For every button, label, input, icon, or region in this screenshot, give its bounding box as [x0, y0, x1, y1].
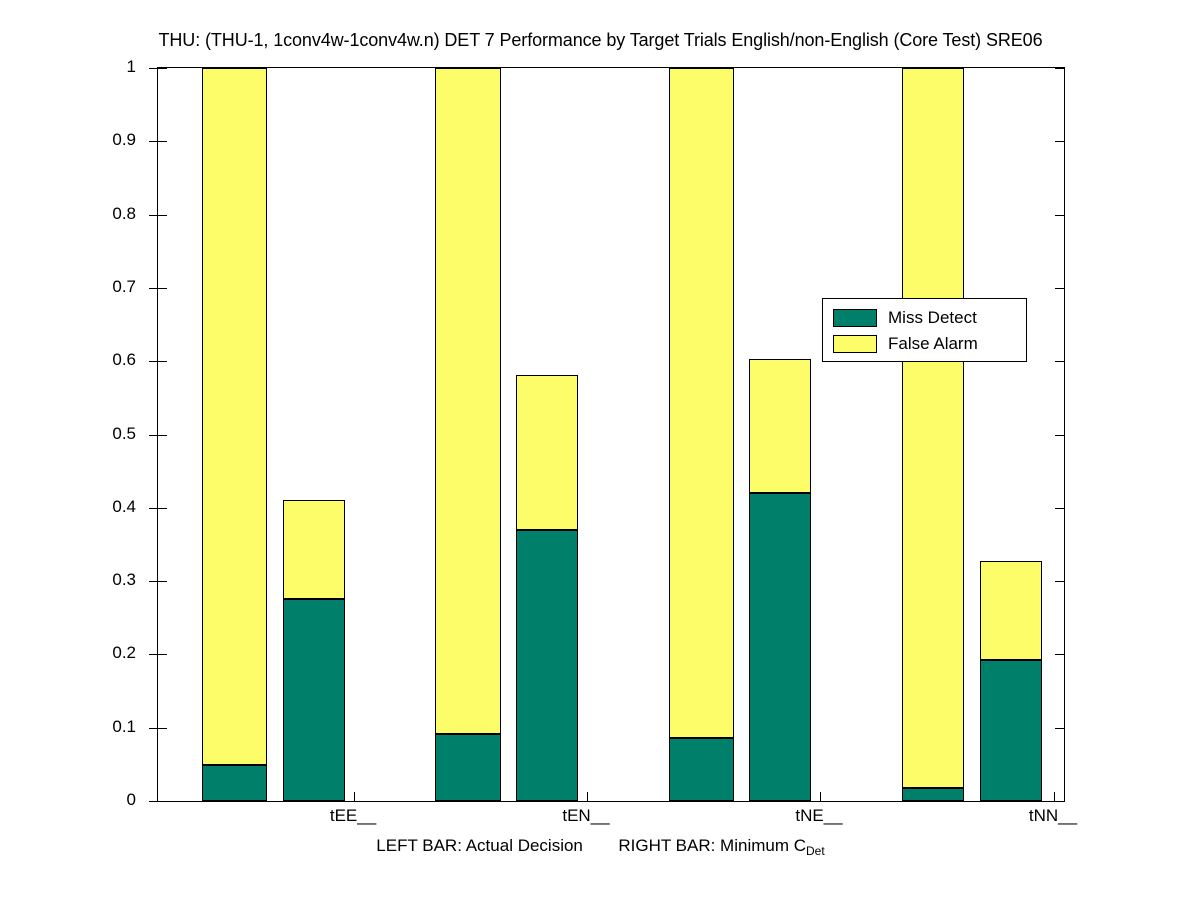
x-tick-mark: [1054, 792, 1055, 801]
y-axis-tick-label: 0.2: [16, 643, 136, 663]
legend-label-false-alarm: False Alarm: [888, 334, 978, 354]
bar-segment-miss-detect: [980, 660, 1042, 801]
y-tick-mark-inner: [158, 801, 167, 802]
y-tick-mark-inner: [158, 215, 167, 216]
bar-segment-miss-detect: [435, 734, 501, 801]
y-tick-mark: [149, 141, 158, 142]
bar-segment-miss-detect: [516, 530, 578, 801]
caption-right-bar: RIGHT BAR: Minimum C: [618, 836, 806, 855]
y-tick-mark: [149, 361, 158, 362]
bar-segment-false-alarm: [202, 68, 267, 765]
legend-label-miss-detect: Miss Detect: [888, 308, 977, 328]
y-tick-mark-inner: [158, 288, 167, 289]
y-axis-tick-label: 0.1: [16, 717, 136, 737]
y-tick-mark-right: [1055, 508, 1064, 509]
bar-segment-miss-detect: [283, 599, 345, 801]
y-axis-tick-label: 1: [16, 57, 136, 77]
x-axis-tick-label-tEN: tEN__: [562, 806, 609, 826]
y-tick-mark: [149, 68, 158, 69]
y-tick-mark-inner: [158, 361, 167, 362]
y-tick-mark: [149, 288, 158, 289]
plot-area: [157, 67, 1065, 802]
bar-tNN-minimum-cdet: [980, 561, 1042, 801]
bar-segment-miss-detect: [902, 788, 964, 801]
bar-segment-false-alarm: [435, 68, 501, 734]
y-tick-mark: [149, 728, 158, 729]
chart-caption: LEFT BAR: Actual Decision RIGHT BAR: Min…: [0, 836, 1201, 856]
x-axis-tick-label-tNE: tNE__: [795, 806, 842, 826]
bar-segment-miss-detect: [202, 765, 267, 801]
bar-tEN-minimum-cdet: [516, 375, 578, 801]
y-tick-mark-right: [1055, 728, 1064, 729]
bar-tEE-actual-decision: [202, 68, 267, 801]
y-axis-tick-label: 0.6: [16, 350, 136, 370]
plot-inner: [158, 68, 1064, 801]
bar-segment-false-alarm: [980, 561, 1042, 660]
bar-tNN-actual-decision: [902, 68, 964, 801]
y-tick-mark: [149, 654, 158, 655]
bar-segment-false-alarm: [669, 68, 734, 738]
legend-item-miss-detect[interactable]: Miss Detect: [833, 305, 1026, 331]
y-axis-tick-label: 0.5: [16, 424, 136, 444]
chart-legend[interactable]: Miss Detect False Alarm: [822, 298, 1027, 362]
legend-item-false-alarm[interactable]: False Alarm: [833, 331, 1026, 357]
bar-tEN-actual-decision: [435, 68, 501, 801]
y-tick-mark-right: [1055, 581, 1064, 582]
y-tick-mark-right: [1055, 654, 1064, 655]
y-tick-mark-inner: [158, 581, 167, 582]
caption-left-bar: LEFT BAR: Actual Decision: [376, 836, 583, 855]
bar-tNE-actual-decision: [669, 68, 734, 801]
x-axis-tick-label-tEE: tEE__: [330, 806, 376, 826]
y-tick-mark: [149, 801, 158, 802]
y-axis-tick-label: 0.9: [16, 130, 136, 150]
x-tick-mark: [820, 792, 821, 801]
chart-title: THU: (THU-1, 1conv4w-1conv4w.n) DET 7 Pe…: [0, 30, 1201, 51]
y-axis-tick-label: 0: [16, 790, 136, 810]
y-tick-mark-right: [1055, 141, 1064, 142]
bar-segment-false-alarm: [902, 68, 964, 788]
y-tick-mark-right: [1055, 68, 1064, 69]
y-axis-tick-label: 0.7: [16, 277, 136, 297]
y-tick-mark-right: [1055, 435, 1064, 436]
y-tick-mark: [149, 435, 158, 436]
caption-right-subscript: Det: [806, 844, 825, 858]
y-tick-mark-inner: [158, 728, 167, 729]
y-axis-tick-label: 0.4: [16, 497, 136, 517]
y-tick-mark-right: [1055, 361, 1064, 362]
chart-figure: THU: (THU-1, 1conv4w-1conv4w.n) DET 7 Pe…: [0, 0, 1201, 900]
bar-tEE-minimum-cdet: [283, 500, 345, 801]
y-tick-mark-right: [1055, 288, 1064, 289]
y-tick-mark-right: [1055, 801, 1064, 802]
x-tick-mark: [354, 792, 355, 801]
bar-segment-false-alarm: [283, 500, 345, 600]
y-tick-mark-right: [1055, 215, 1064, 216]
y-tick-mark-inner: [158, 508, 167, 509]
bar-segment-miss-detect: [669, 738, 734, 801]
legend-swatch-false-alarm: [833, 335, 877, 353]
y-tick-mark-inner: [158, 435, 167, 436]
legend-swatch-miss-detect: [833, 309, 877, 327]
y-tick-mark: [149, 581, 158, 582]
y-tick-mark-inner: [158, 654, 167, 655]
y-axis-tick-label: 0.3: [16, 570, 136, 590]
bar-segment-miss-detect: [749, 493, 811, 801]
bar-segment-false-alarm: [516, 375, 578, 530]
x-axis-tick-label-tNN: tNN__: [1029, 806, 1077, 826]
y-tick-mark-inner: [158, 141, 167, 142]
bar-segment-false-alarm: [749, 359, 811, 493]
y-tick-mark: [149, 508, 158, 509]
y-axis-tick-label: 0.8: [16, 204, 136, 224]
bar-tNE-minimum-cdet: [749, 359, 811, 801]
y-tick-mark: [149, 215, 158, 216]
y-tick-mark-inner: [158, 68, 167, 69]
x-tick-mark: [587, 792, 588, 801]
